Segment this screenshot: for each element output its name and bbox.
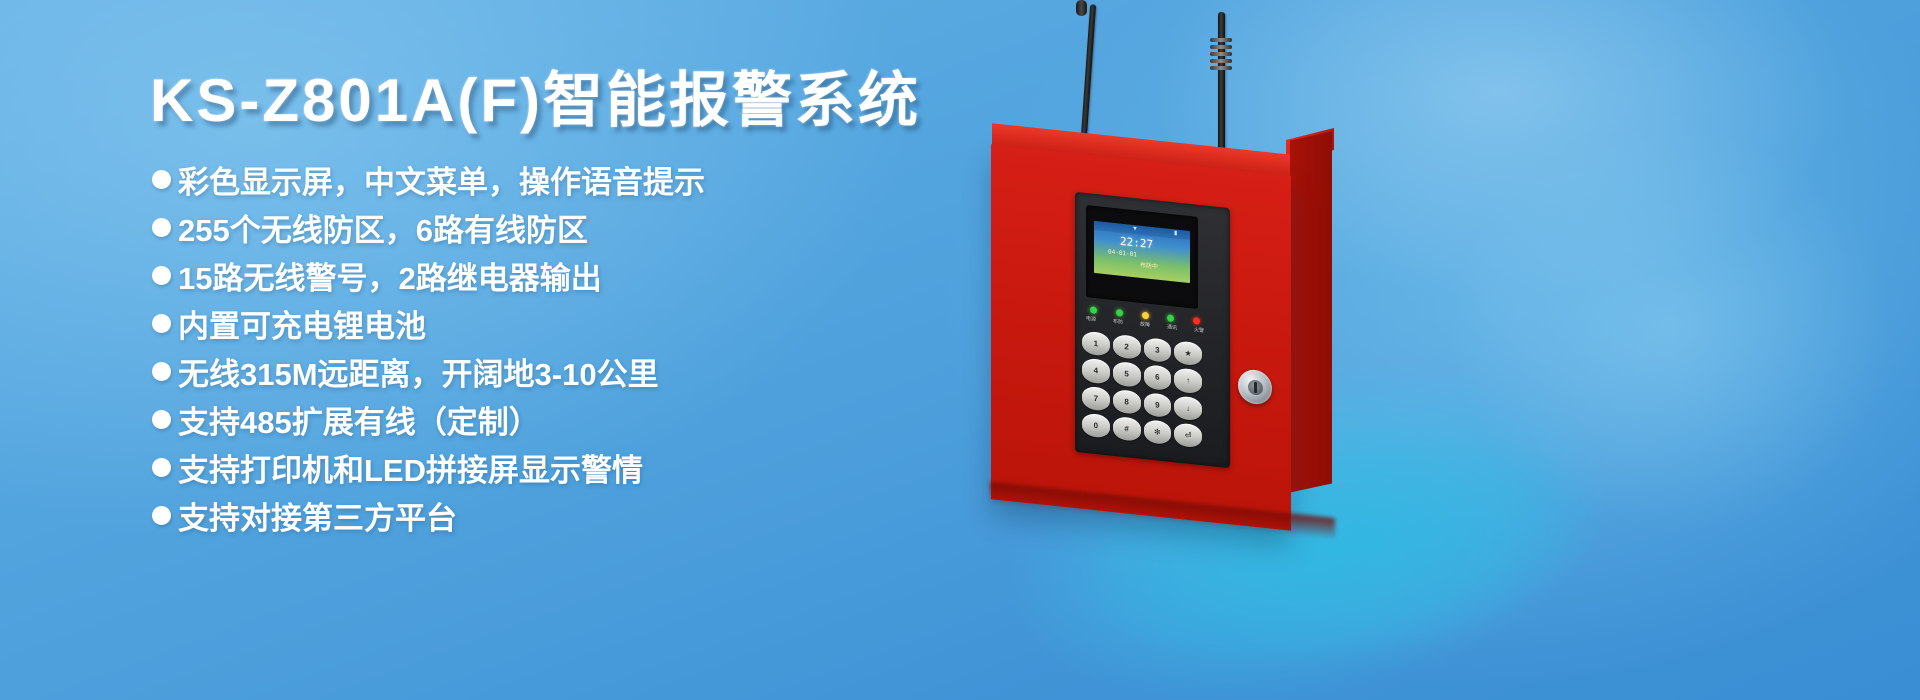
- keypad-key[interactable]: 2: [1113, 334, 1141, 360]
- filled-circle-bullet-icon: [152, 506, 171, 525]
- keypad-key[interactable]: 9: [1144, 392, 1172, 418]
- keypad-key[interactable]: 4: [1082, 358, 1110, 384]
- status-led: [1167, 314, 1174, 322]
- status-led: [1142, 312, 1149, 320]
- list-item: 支持对接第三方平台: [152, 491, 705, 539]
- filled-circle-bullet-icon: [152, 266, 171, 285]
- list-item: 无线315M远距离，开阔地3-10公里: [152, 347, 705, 395]
- product-banner: KS-Z801A(F)智能报警系统 彩色显示屏，中文菜单，操作语音提示 255个…: [0, 0, 1920, 700]
- keypad-key[interactable]: 1: [1082, 331, 1110, 357]
- keypad-key[interactable]: 7: [1082, 385, 1110, 411]
- antenna-left-tip-icon: [1076, 0, 1087, 16]
- status-led: [1116, 309, 1123, 317]
- indicator-label: 电源: [1086, 315, 1096, 323]
- keypad-key[interactable]: ✻: [1144, 419, 1172, 445]
- filled-circle-bullet-icon: [152, 362, 171, 381]
- feature-text: 无线315M远距离，开阔地3-10公里: [178, 349, 659, 394]
- keypad-key[interactable]: #: [1113, 416, 1141, 442]
- feature-list: 彩色显示屏，中文菜单，操作语音提示 255个无线防区，6路有线防区 15路无线警…: [152, 155, 705, 539]
- keypad-key[interactable]: ⏎: [1174, 422, 1202, 448]
- lcd-status-text: 布防中: [1140, 260, 1158, 271]
- filled-circle-bullet-icon: [152, 410, 171, 429]
- page-title: KS-Z801A(F)智能报警系统: [150, 52, 921, 139]
- keypad-key[interactable]: 3: [1144, 337, 1172, 363]
- list-item: 255个无线防区，6路有线防区: [152, 203, 705, 251]
- lcd-date: 04-01-01: [1108, 248, 1137, 258]
- feature-text: 255个无线防区，6路有线防区: [178, 205, 588, 250]
- feature-text: 内置可充电锂电池: [178, 301, 426, 346]
- antenna-coil-icon: [1210, 38, 1232, 78]
- list-item: 15路无线警号，2路继电器输出: [152, 251, 705, 299]
- keypad-key[interactable]: 0: [1082, 412, 1110, 438]
- feature-text: 彩色显示屏，中文菜单，操作语音提示: [178, 157, 705, 202]
- feature-text: 支持485扩展有线（定制）: [178, 397, 540, 442]
- keypad-key[interactable]: 6: [1144, 364, 1172, 390]
- lock-core: [1248, 379, 1263, 396]
- feature-text: 支持打印机和LED拼接屏显示警情: [178, 445, 643, 490]
- antenna-right-icon: [1218, 12, 1225, 162]
- list-item: 彩色显示屏，中文菜单，操作语音提示: [152, 155, 705, 203]
- feature-text: 15路无线警号，2路继电器输出: [178, 253, 602, 298]
- indicator-label: 火警: [1194, 326, 1204, 334]
- list-item: 支持打印机和LED拼接屏显示警情: [152, 443, 705, 491]
- keypad-key[interactable]: ★: [1174, 340, 1202, 366]
- filled-circle-bullet-icon: [152, 314, 171, 333]
- indicator-label: 布防: [1113, 318, 1123, 326]
- keypad-key[interactable]: ↓: [1174, 395, 1202, 421]
- filled-circle-bullet-icon: [152, 458, 171, 477]
- keypad-key[interactable]: 5: [1113, 361, 1141, 387]
- status-led: [1090, 306, 1097, 314]
- list-item: 内置可充电锂电池: [152, 299, 705, 347]
- keypad[interactable]: 1 2 3 ★ 4 5 6 ↑ 7 8 9 ↓ 0 # ✻ ⏎: [1082, 331, 1202, 449]
- enclosure-side: [1290, 132, 1332, 493]
- lcd-screen: ▼ ▮ 22:27 04-01-01 布防中: [1094, 221, 1190, 283]
- filled-circle-bullet-icon: [152, 218, 171, 237]
- signal-icon: ▼: [1132, 226, 1138, 234]
- keypad-key[interactable]: ↑: [1174, 368, 1202, 394]
- filled-circle-bullet-icon: [152, 170, 171, 189]
- list-item: 支持485扩展有线（定制）: [152, 395, 705, 443]
- lcd-time: 22:27: [1120, 235, 1153, 251]
- battery-icon: ▮: [1174, 230, 1177, 237]
- indicator-label: 故障: [1140, 320, 1150, 328]
- keypad-key[interactable]: 8: [1113, 388, 1141, 414]
- indicator-label: 通讯: [1167, 323, 1177, 331]
- status-led: [1193, 317, 1200, 325]
- feature-text: 支持对接第三方平台: [178, 493, 457, 538]
